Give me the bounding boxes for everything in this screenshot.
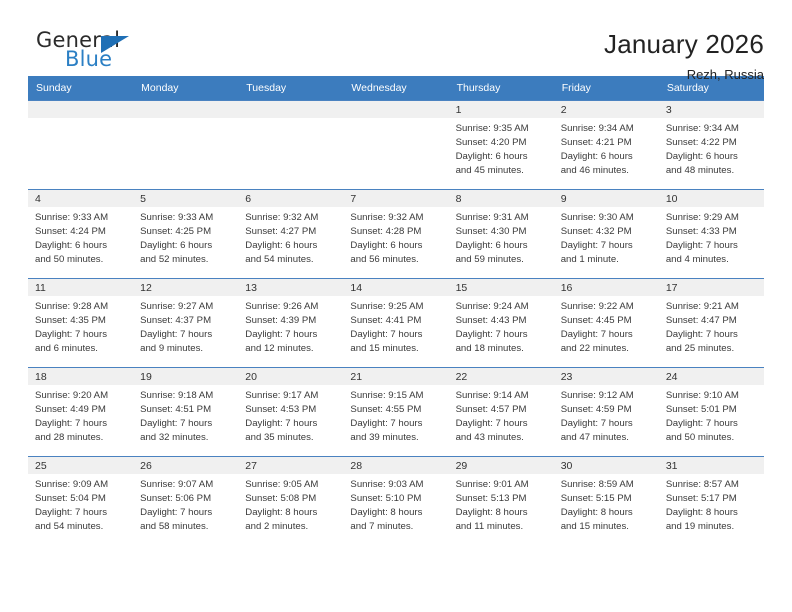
- sunrise-text: Sunrise: 8:59 AM: [561, 478, 653, 492]
- page-title: January 2026: [604, 30, 764, 60]
- daylight-text-line1: Daylight: 6 hours: [456, 150, 548, 164]
- day-details: Sunrise: 9:10 AMSunset: 5:01 PMDaylight:…: [659, 385, 764, 445]
- sunrise-text: Sunrise: 9:27 AM: [140, 300, 232, 314]
- daylight-text-line1: Daylight: 7 hours: [456, 328, 548, 342]
- calendar-day-cell[interactable]: 13Sunrise: 9:26 AMSunset: 4:39 PMDayligh…: [238, 279, 343, 368]
- calendar-day-cell[interactable]: 19Sunrise: 9:18 AMSunset: 4:51 PMDayligh…: [133, 368, 238, 457]
- calendar-day-cell[interactable]: 7Sunrise: 9:32 AMSunset: 4:28 PMDaylight…: [343, 190, 448, 279]
- daylight-text-line2: and 54 minutes.: [35, 520, 127, 534]
- sunset-text: Sunset: 4:32 PM: [561, 225, 653, 239]
- sunset-text: Sunset: 5:06 PM: [140, 492, 232, 506]
- day-details: Sunrise: 9:03 AMSunset: 5:10 PMDaylight:…: [343, 474, 448, 534]
- day-details: Sunrise: 9:34 AMSunset: 4:21 PMDaylight:…: [554, 118, 659, 178]
- daylight-text-line1: Daylight: 7 hours: [350, 417, 442, 431]
- day-number: 27: [238, 457, 343, 474]
- daylight-text-line1: Daylight: 7 hours: [140, 328, 232, 342]
- daylight-text-line1: Daylight: 7 hours: [245, 417, 337, 431]
- sunset-text: Sunset: 5:13 PM: [456, 492, 548, 506]
- sunrise-text: Sunrise: 9:31 AM: [456, 211, 548, 225]
- day-details: Sunrise: 9:32 AMSunset: 4:27 PMDaylight:…: [238, 207, 343, 267]
- month-calendar-table: SundayMondayTuesdayWednesdayThursdayFrid…: [28, 76, 764, 546]
- day-details: Sunrise: 8:59 AMSunset: 5:15 PMDaylight:…: [554, 474, 659, 534]
- daylight-text-line2: and 54 minutes.: [245, 253, 337, 267]
- daylight-text-line1: Daylight: 7 hours: [35, 328, 127, 342]
- sunset-text: Sunset: 4:51 PM: [140, 403, 232, 417]
- weekday-header-thursday: Thursday: [449, 76, 554, 101]
- calendar-day-cell-empty: [133, 101, 238, 190]
- sunrise-text: Sunrise: 9:22 AM: [561, 300, 653, 314]
- daylight-text-line2: and 12 minutes.: [245, 342, 337, 356]
- general-blue-logo[interactable]: General Blue: [28, 28, 208, 76]
- sunset-text: Sunset: 4:27 PM: [245, 225, 337, 239]
- weekday-header-sunday: Sunday: [28, 76, 133, 101]
- day-details: Sunrise: 9:14 AMSunset: 4:57 PMDaylight:…: [449, 385, 554, 445]
- calendar-week-row: 18Sunrise: 9:20 AMSunset: 4:49 PMDayligh…: [28, 368, 764, 457]
- sunset-text: Sunset: 5:15 PM: [561, 492, 653, 506]
- day-details: Sunrise: 9:32 AMSunset: 4:28 PMDaylight:…: [343, 207, 448, 267]
- logo-text-blue: Blue: [65, 47, 112, 71]
- sunset-text: Sunset: 4:43 PM: [456, 314, 548, 328]
- day-number: 31: [659, 457, 764, 474]
- calendar-day-cell[interactable]: 6Sunrise: 9:32 AMSunset: 4:27 PMDaylight…: [238, 190, 343, 279]
- calendar-day-cell[interactable]: 10Sunrise: 9:29 AMSunset: 4:33 PMDayligh…: [659, 190, 764, 279]
- calendar-week-row: 11Sunrise: 9:28 AMSunset: 4:35 PMDayligh…: [28, 279, 764, 368]
- day-number: [343, 101, 448, 118]
- sunrise-text: Sunrise: 9:29 AM: [666, 211, 758, 225]
- day-details: Sunrise: 9:18 AMSunset: 4:51 PMDaylight:…: [133, 385, 238, 445]
- daylight-text-line2: and 19 minutes.: [666, 520, 758, 534]
- day-details: Sunrise: 9:29 AMSunset: 4:33 PMDaylight:…: [659, 207, 764, 267]
- sunset-text: Sunset: 4:33 PM: [666, 225, 758, 239]
- daylight-text-line1: Daylight: 7 hours: [350, 328, 442, 342]
- day-details: Sunrise: 9:09 AMSunset: 5:04 PMDaylight:…: [28, 474, 133, 534]
- sunset-text: Sunset: 5:10 PM: [350, 492, 442, 506]
- calendar-week-row: 4Sunrise: 9:33 AMSunset: 4:24 PMDaylight…: [28, 190, 764, 279]
- day-details: Sunrise: 9:28 AMSunset: 4:35 PMDaylight:…: [28, 296, 133, 356]
- daylight-text-line2: and 35 minutes.: [245, 431, 337, 445]
- sunrise-text: Sunrise: 9:12 AM: [561, 389, 653, 403]
- day-details: Sunrise: 9:25 AMSunset: 4:41 PMDaylight:…: [343, 296, 448, 356]
- sunrise-text: Sunrise: 9:32 AM: [350, 211, 442, 225]
- calendar-day-cell[interactable]: 27Sunrise: 9:05 AMSunset: 5:08 PMDayligh…: [238, 457, 343, 546]
- sunrise-text: Sunrise: 9:21 AM: [666, 300, 758, 314]
- day-details: Sunrise: 9:22 AMSunset: 4:45 PMDaylight:…: [554, 296, 659, 356]
- day-number: 16: [554, 279, 659, 296]
- calendar-day-cell[interactable]: 5Sunrise: 9:33 AMSunset: 4:25 PMDaylight…: [133, 190, 238, 279]
- daylight-text-line1: Daylight: 7 hours: [456, 417, 548, 431]
- location-subtitle: Rezh, Russia: [604, 67, 764, 82]
- day-number: [133, 101, 238, 118]
- day-number: 24: [659, 368, 764, 385]
- day-number: [238, 101, 343, 118]
- day-details: Sunrise: 9:34 AMSunset: 4:22 PMDaylight:…: [659, 118, 764, 178]
- daylight-text-line1: Daylight: 7 hours: [561, 328, 653, 342]
- sunrise-text: Sunrise: 9:07 AM: [140, 478, 232, 492]
- day-number: 13: [238, 279, 343, 296]
- day-number: 9: [554, 190, 659, 207]
- daylight-text-line1: Daylight: 7 hours: [35, 506, 127, 520]
- daylight-text-line1: Daylight: 6 hours: [35, 239, 127, 253]
- day-details: Sunrise: 9:30 AMSunset: 4:32 PMDaylight:…: [554, 207, 659, 267]
- daylight-text-line2: and 47 minutes.: [561, 431, 653, 445]
- day-number: 15: [449, 279, 554, 296]
- daylight-text-line1: Daylight: 7 hours: [666, 417, 758, 431]
- day-details: Sunrise: 9:26 AMSunset: 4:39 PMDaylight:…: [238, 296, 343, 356]
- day-number: 25: [28, 457, 133, 474]
- calendar-day-cell[interactable]: 12Sunrise: 9:27 AMSunset: 4:37 PMDayligh…: [133, 279, 238, 368]
- daylight-text-line2: and 6 minutes.: [35, 342, 127, 356]
- sunrise-text: Sunrise: 9:09 AM: [35, 478, 127, 492]
- calendar-day-cell[interactable]: 29Sunrise: 9:01 AMSunset: 5:13 PMDayligh…: [449, 457, 554, 546]
- calendar-page: General Blue January 2026 Rezh, Russia S…: [0, 0, 792, 612]
- sunrise-text: Sunrise: 9:26 AM: [245, 300, 337, 314]
- day-details: Sunrise: 9:24 AMSunset: 4:43 PMDaylight:…: [449, 296, 554, 356]
- daylight-text-line1: Daylight: 8 hours: [456, 506, 548, 520]
- day-number: 23: [554, 368, 659, 385]
- sunrise-text: Sunrise: 9:14 AM: [456, 389, 548, 403]
- daylight-text-line1: Daylight: 8 hours: [350, 506, 442, 520]
- day-details: Sunrise: 9:12 AMSunset: 4:59 PMDaylight:…: [554, 385, 659, 445]
- sunrise-text: Sunrise: 9:30 AM: [561, 211, 653, 225]
- daylight-text-line2: and 11 minutes.: [456, 520, 548, 534]
- sunrise-text: Sunrise: 9:01 AM: [456, 478, 548, 492]
- daylight-text-line1: Daylight: 6 hours: [561, 150, 653, 164]
- daylight-text-line1: Daylight: 6 hours: [350, 239, 442, 253]
- sunrise-text: Sunrise: 8:57 AM: [666, 478, 758, 492]
- daylight-text-line2: and 18 minutes.: [456, 342, 548, 356]
- day-number: 2: [554, 101, 659, 118]
- sunrise-text: Sunrise: 9:20 AM: [35, 389, 127, 403]
- sunset-text: Sunset: 4:30 PM: [456, 225, 548, 239]
- day-number: 6: [238, 190, 343, 207]
- calendar-day-cell[interactable]: 26Sunrise: 9:07 AMSunset: 5:06 PMDayligh…: [133, 457, 238, 546]
- calendar-day-cell[interactable]: 15Sunrise: 9:24 AMSunset: 4:43 PMDayligh…: [449, 279, 554, 368]
- calendar-day-cell[interactable]: 1Sunrise: 9:35 AMSunset: 4:20 PMDaylight…: [449, 101, 554, 190]
- sunrise-text: Sunrise: 9:17 AM: [245, 389, 337, 403]
- daylight-text-line2: and 48 minutes.: [666, 164, 758, 178]
- sunrise-text: Sunrise: 9:25 AM: [350, 300, 442, 314]
- page-header: General Blue January 2026 Rezh, Russia: [28, 0, 764, 76]
- calendar-day-cell[interactable]: 4Sunrise: 9:33 AMSunset: 4:24 PMDaylight…: [28, 190, 133, 279]
- sunset-text: Sunset: 5:01 PM: [666, 403, 758, 417]
- calendar-week-row: 1Sunrise: 9:35 AMSunset: 4:20 PMDaylight…: [28, 101, 764, 190]
- sunrise-text: Sunrise: 9:15 AM: [350, 389, 442, 403]
- daylight-text-line1: Daylight: 7 hours: [561, 417, 653, 431]
- daylight-text-line1: Daylight: 7 hours: [245, 328, 337, 342]
- calendar-week-row: 25Sunrise: 9:09 AMSunset: 5:04 PMDayligh…: [28, 457, 764, 546]
- calendar-day-cell[interactable]: 17Sunrise: 9:21 AMSunset: 4:47 PMDayligh…: [659, 279, 764, 368]
- daylight-text-line2: and 15 minutes.: [350, 342, 442, 356]
- calendar-day-cell[interactable]: 23Sunrise: 9:12 AMSunset: 4:59 PMDayligh…: [554, 368, 659, 457]
- daylight-text-line2: and 9 minutes.: [140, 342, 232, 356]
- daylight-text-line2: and 39 minutes.: [350, 431, 442, 445]
- daylight-text-line2: and 1 minute.: [561, 253, 653, 267]
- calendar-day-cell-empty: [28, 101, 133, 190]
- calendar-day-cell[interactable]: 30Sunrise: 8:59 AMSunset: 5:15 PMDayligh…: [554, 457, 659, 546]
- sunrise-text: Sunrise: 9:34 AM: [666, 122, 758, 136]
- daylight-text-line1: Daylight: 7 hours: [666, 328, 758, 342]
- calendar-day-cell[interactable]: 31Sunrise: 8:57 AMSunset: 5:17 PMDayligh…: [659, 457, 764, 546]
- sunset-text: Sunset: 4:39 PM: [245, 314, 337, 328]
- title-block: January 2026 Rezh, Russia: [604, 28, 764, 82]
- daylight-text-line1: Daylight: 7 hours: [561, 239, 653, 253]
- calendar-day-cell[interactable]: 11Sunrise: 9:28 AMSunset: 4:35 PMDayligh…: [28, 279, 133, 368]
- daylight-text-line2: and 56 minutes.: [350, 253, 442, 267]
- calendar-day-cell-empty: [343, 101, 448, 190]
- sunrise-text: Sunrise: 9:18 AM: [140, 389, 232, 403]
- day-number: 17: [659, 279, 764, 296]
- day-details: Sunrise: 9:27 AMSunset: 4:37 PMDaylight:…: [133, 296, 238, 356]
- sunset-text: Sunset: 4:41 PM: [350, 314, 442, 328]
- daylight-text-line1: Daylight: 6 hours: [140, 239, 232, 253]
- calendar-day-cell[interactable]: 14Sunrise: 9:25 AMSunset: 4:41 PMDayligh…: [343, 279, 448, 368]
- day-details: Sunrise: 9:33 AMSunset: 4:25 PMDaylight:…: [133, 207, 238, 267]
- day-number: 28: [343, 457, 448, 474]
- day-number: 5: [133, 190, 238, 207]
- daylight-text-line1: Daylight: 8 hours: [666, 506, 758, 520]
- day-number: 3: [659, 101, 764, 118]
- sunset-text: Sunset: 5:04 PM: [35, 492, 127, 506]
- calendar-day-cell[interactable]: 28Sunrise: 9:03 AMSunset: 5:10 PMDayligh…: [343, 457, 448, 546]
- day-number: 14: [343, 279, 448, 296]
- daylight-text-line2: and 45 minutes.: [456, 164, 548, 178]
- day-details: Sunrise: 9:15 AMSunset: 4:55 PMDaylight:…: [343, 385, 448, 445]
- calendar-day-cell[interactable]: 22Sunrise: 9:14 AMSunset: 4:57 PMDayligh…: [449, 368, 554, 457]
- sunset-text: Sunset: 4:28 PM: [350, 225, 442, 239]
- daylight-text-line1: Daylight: 7 hours: [666, 239, 758, 253]
- calendar-body: 1Sunrise: 9:35 AMSunset: 4:20 PMDaylight…: [28, 101, 764, 546]
- sunrise-text: Sunrise: 9:03 AM: [350, 478, 442, 492]
- day-number: 30: [554, 457, 659, 474]
- day-number: 21: [343, 368, 448, 385]
- calendar-day-cell[interactable]: 21Sunrise: 9:15 AMSunset: 4:55 PMDayligh…: [343, 368, 448, 457]
- day-details: Sunrise: 9:01 AMSunset: 5:13 PMDaylight:…: [449, 474, 554, 534]
- daylight-text-line2: and 2 minutes.: [245, 520, 337, 534]
- day-details: Sunrise: 9:31 AMSunset: 4:30 PMDaylight:…: [449, 207, 554, 267]
- daylight-text-line2: and 28 minutes.: [35, 431, 127, 445]
- day-number: 11: [28, 279, 133, 296]
- daylight-text-line2: and 32 minutes.: [140, 431, 232, 445]
- sunrise-text: Sunrise: 9:32 AM: [245, 211, 337, 225]
- day-number: 26: [133, 457, 238, 474]
- day-number: 22: [449, 368, 554, 385]
- day-details: Sunrise: 8:57 AMSunset: 5:17 PMDaylight:…: [659, 474, 764, 534]
- sunrise-text: Sunrise: 9:10 AM: [666, 389, 758, 403]
- daylight-text-line2: and 43 minutes.: [456, 431, 548, 445]
- calendar-day-cell-empty: [238, 101, 343, 190]
- daylight-text-line2: and 15 minutes.: [561, 520, 653, 534]
- sunrise-text: Sunrise: 9:33 AM: [35, 211, 127, 225]
- sunset-text: Sunset: 4:47 PM: [666, 314, 758, 328]
- daylight-text-line2: and 7 minutes.: [350, 520, 442, 534]
- day-number: 20: [238, 368, 343, 385]
- daylight-text-line2: and 25 minutes.: [666, 342, 758, 356]
- sunset-text: Sunset: 4:35 PM: [35, 314, 127, 328]
- daylight-text-line1: Daylight: 6 hours: [245, 239, 337, 253]
- daylight-text-line2: and 22 minutes.: [561, 342, 653, 356]
- daylight-text-line2: and 58 minutes.: [140, 520, 232, 534]
- day-details: Sunrise: 9:21 AMSunset: 4:47 PMDaylight:…: [659, 296, 764, 356]
- daylight-text-line1: Daylight: 6 hours: [456, 239, 548, 253]
- daylight-text-line2: and 46 minutes.: [561, 164, 653, 178]
- calendar-day-cell[interactable]: 9Sunrise: 9:30 AMSunset: 4:32 PMDaylight…: [554, 190, 659, 279]
- sunrise-text: Sunrise: 9:05 AM: [245, 478, 337, 492]
- daylight-text-line1: Daylight: 8 hours: [245, 506, 337, 520]
- calendar-day-cell[interactable]: 25Sunrise: 9:09 AMSunset: 5:04 PMDayligh…: [28, 457, 133, 546]
- day-details: Sunrise: 9:07 AMSunset: 5:06 PMDaylight:…: [133, 474, 238, 534]
- sunset-text: Sunset: 4:49 PM: [35, 403, 127, 417]
- weekday-header-wednesday: Wednesday: [343, 76, 448, 101]
- sunrise-text: Sunrise: 9:33 AM: [140, 211, 232, 225]
- day-number: 19: [133, 368, 238, 385]
- day-number: 1: [449, 101, 554, 118]
- calendar-day-cell[interactable]: 8Sunrise: 9:31 AMSunset: 4:30 PMDaylight…: [449, 190, 554, 279]
- day-number: 29: [449, 457, 554, 474]
- day-number: 10: [659, 190, 764, 207]
- day-details: Sunrise: 9:05 AMSunset: 5:08 PMDaylight:…: [238, 474, 343, 534]
- daylight-text-line2: and 50 minutes.: [666, 431, 758, 445]
- day-number: 8: [449, 190, 554, 207]
- day-number: 18: [28, 368, 133, 385]
- day-number: 7: [343, 190, 448, 207]
- sunset-text: Sunset: 4:22 PM: [666, 136, 758, 150]
- day-details: Sunrise: 9:35 AMSunset: 4:20 PMDaylight:…: [449, 118, 554, 178]
- sunset-text: Sunset: 4:45 PM: [561, 314, 653, 328]
- calendar-day-cell[interactable]: 16Sunrise: 9:22 AMSunset: 4:45 PMDayligh…: [554, 279, 659, 368]
- day-number: 12: [133, 279, 238, 296]
- sunset-text: Sunset: 5:17 PM: [666, 492, 758, 506]
- sunset-text: Sunset: 4:21 PM: [561, 136, 653, 150]
- sunset-text: Sunset: 4:25 PM: [140, 225, 232, 239]
- sunset-text: Sunset: 4:57 PM: [456, 403, 548, 417]
- daylight-text-line2: and 50 minutes.: [35, 253, 127, 267]
- sunset-text: Sunset: 4:55 PM: [350, 403, 442, 417]
- sunrise-text: Sunrise: 9:28 AM: [35, 300, 127, 314]
- weekday-header-monday: Monday: [133, 76, 238, 101]
- daylight-text-line2: and 4 minutes.: [666, 253, 758, 267]
- daylight-text-line2: and 52 minutes.: [140, 253, 232, 267]
- calendar-day-cell[interactable]: 18Sunrise: 9:20 AMSunset: 4:49 PMDayligh…: [28, 368, 133, 457]
- day-number: [28, 101, 133, 118]
- daylight-text-line1: Daylight: 6 hours: [666, 150, 758, 164]
- daylight-text-line1: Daylight: 7 hours: [140, 417, 232, 431]
- sunset-text: Sunset: 4:20 PM: [456, 136, 548, 150]
- day-number: 4: [28, 190, 133, 207]
- sunset-text: Sunset: 4:24 PM: [35, 225, 127, 239]
- sunrise-text: Sunrise: 9:24 AM: [456, 300, 548, 314]
- weekday-header-tuesday: Tuesday: [238, 76, 343, 101]
- day-details: Sunrise: 9:20 AMSunset: 4:49 PMDaylight:…: [28, 385, 133, 445]
- sunset-text: Sunset: 4:37 PM: [140, 314, 232, 328]
- daylight-text-line1: Daylight: 8 hours: [561, 506, 653, 520]
- calendar-day-cell[interactable]: 2Sunrise: 9:34 AMSunset: 4:21 PMDaylight…: [554, 101, 659, 190]
- day-details: Sunrise: 9:17 AMSunset: 4:53 PMDaylight:…: [238, 385, 343, 445]
- sunset-text: Sunset: 5:08 PM: [245, 492, 337, 506]
- day-details: Sunrise: 9:33 AMSunset: 4:24 PMDaylight:…: [28, 207, 133, 267]
- calendar-day-cell[interactable]: 24Sunrise: 9:10 AMSunset: 5:01 PMDayligh…: [659, 368, 764, 457]
- calendar-day-cell[interactable]: 3Sunrise: 9:34 AMSunset: 4:22 PMDaylight…: [659, 101, 764, 190]
- calendar-day-cell[interactable]: 20Sunrise: 9:17 AMSunset: 4:53 PMDayligh…: [238, 368, 343, 457]
- daylight-text-line1: Daylight: 7 hours: [35, 417, 127, 431]
- sunrise-text: Sunrise: 9:35 AM: [456, 122, 548, 136]
- daylight-text-line1: Daylight: 7 hours: [140, 506, 232, 520]
- sunset-text: Sunset: 4:59 PM: [561, 403, 653, 417]
- sunrise-text: Sunrise: 9:34 AM: [561, 122, 653, 136]
- sunset-text: Sunset: 4:53 PM: [245, 403, 337, 417]
- daylight-text-line2: and 59 minutes.: [456, 253, 548, 267]
